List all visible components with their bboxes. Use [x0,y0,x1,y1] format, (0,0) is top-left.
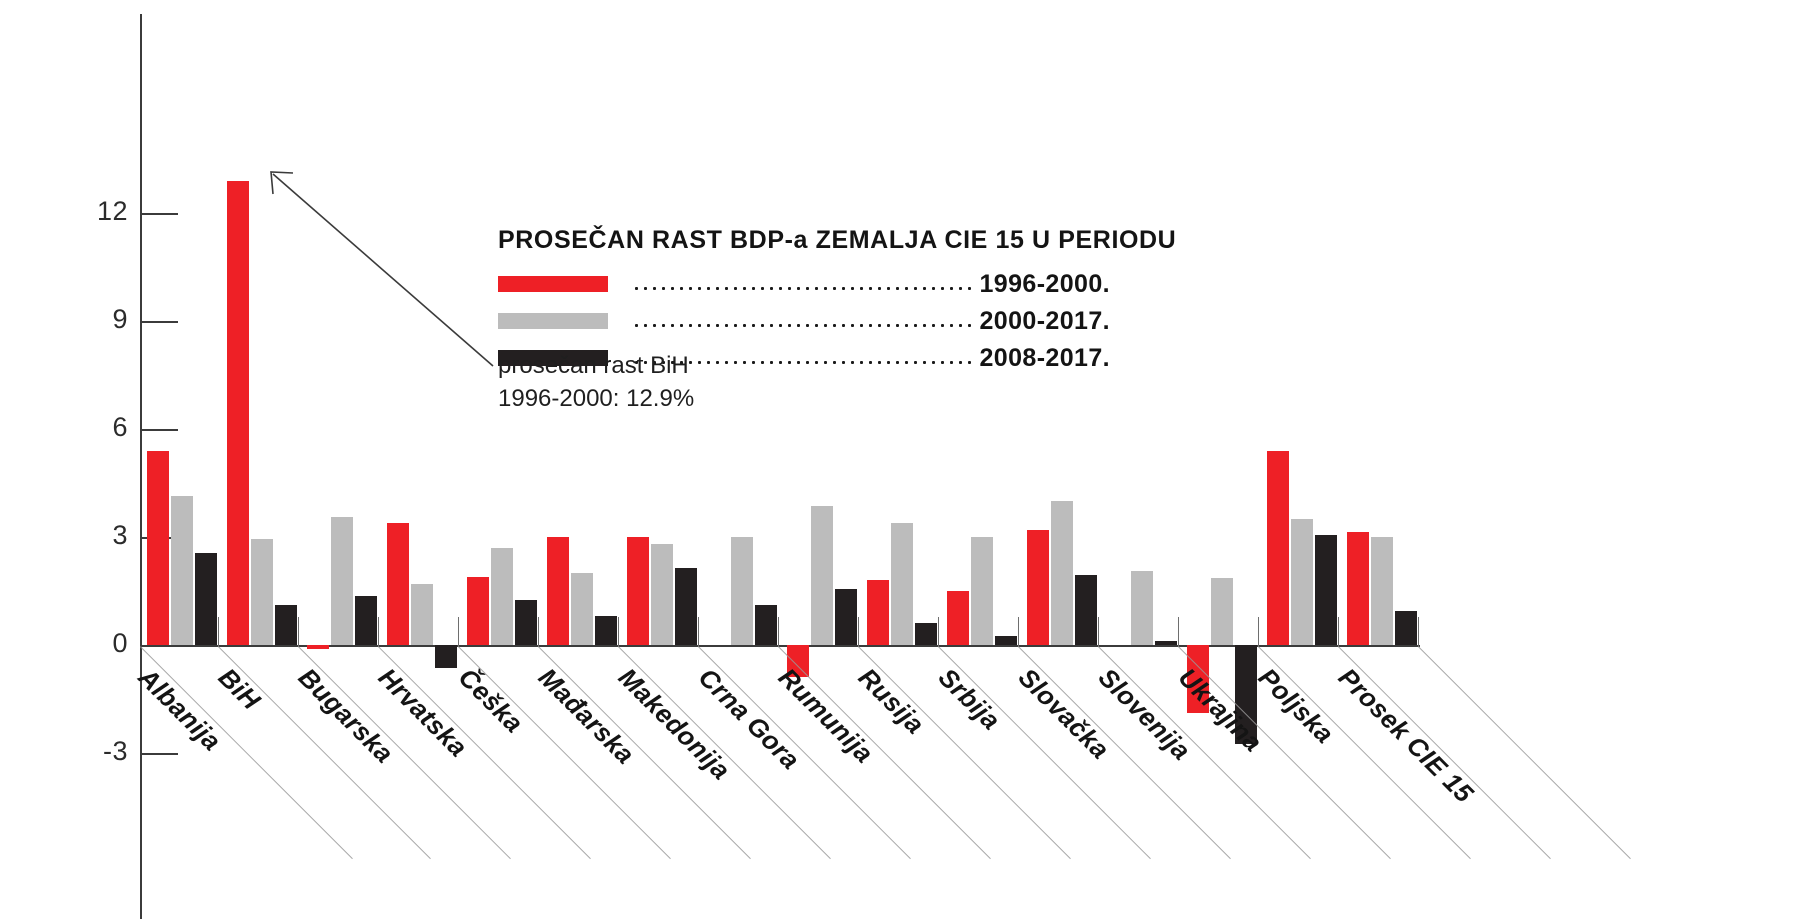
bar-group [1020,0,1100,923]
bar [1075,575,1097,645]
legend-period-label: 2008-2017. [979,344,1110,373]
y-tick-label-0: 0 [48,628,128,659]
bar-group [1100,0,1180,923]
bar [1347,532,1369,645]
y-tick-label--3: -3 [48,736,128,767]
bar [731,537,753,645]
bar [1267,451,1289,645]
bar [1395,611,1417,645]
bar [195,553,217,645]
group-separator [1178,617,1179,647]
group-separator [1418,617,1419,647]
y-tick-label-12: 12 [48,196,128,227]
legend-dot-leader [632,278,971,298]
bar [1051,501,1073,645]
bar [1027,530,1049,645]
bar-group [140,0,220,923]
bar [651,544,673,645]
bar-group [780,0,860,923]
bar [971,537,993,645]
group-separator [1338,617,1339,647]
bar [387,523,409,645]
y-axis-tick-labels: -3036912 [0,0,128,923]
bar-group [620,0,700,923]
bar [995,636,1017,645]
legend-swatch-red [498,276,608,292]
bar [1155,641,1177,645]
bar [595,616,617,645]
legend-row[interactable]: 2000-2017. [498,308,1110,334]
label-leader-line [1418,646,1631,859]
legend-row[interactable]: 1996-2000. [498,271,1110,297]
bar [411,584,433,645]
y-tick-label-3: 3 [48,520,128,551]
bar [171,496,193,645]
group-separator [458,617,459,647]
bar [755,605,777,645]
bar [891,523,913,645]
plot-area: -3036912 AlbanijaBiHBugarskaHrvatskaČešk… [0,0,1800,923]
group-separator [938,617,939,647]
bar [307,645,329,649]
group-separator [618,617,619,647]
annotation-line-2: 1996-2000: 12.9% [498,383,694,416]
bar-group [460,0,540,923]
group-separator [698,617,699,647]
bar [811,506,833,645]
bar [1315,535,1337,645]
group-separator [1098,617,1099,647]
bar [435,645,457,668]
gdp-growth-bar-chart: -3036912 AlbanijaBiHBugarskaHrvatskaČešk… [0,0,1800,923]
bar [835,589,857,645]
group-separator [378,617,379,647]
group-separator [858,617,859,647]
bar [331,517,353,645]
bar [915,623,937,645]
bar [467,577,489,645]
group-separator [218,617,219,647]
bar [227,181,249,645]
bar-group [940,0,1020,923]
bar [491,548,513,645]
annotation-line-1: prosečan rast BiH [498,350,694,383]
group-separator [298,617,299,647]
bar [515,600,537,645]
annotation-text: prosečan rast BiH 1996-2000: 12.9% [498,350,694,415]
legend-title: PROSEČAN RAST BDP-a ZEMALJA CIE 15 U PER… [498,226,1110,255]
bar [867,580,889,645]
bar [147,451,169,645]
y-tick-label-9: 9 [48,304,128,335]
bar-group [300,0,380,923]
bar [1291,519,1313,645]
bar [1211,578,1233,645]
bar [275,605,297,645]
bar-group [1260,0,1340,923]
legend-period-label: 1996-2000. [979,270,1110,299]
bar [1371,537,1393,645]
legend-period-label: 2000-2017. [979,307,1110,336]
bar [1131,571,1153,645]
group-separator [778,617,779,647]
group-separator [1018,617,1019,647]
bar-group [1180,0,1260,923]
bar-group [860,0,940,923]
bar [251,539,273,645]
bar [571,573,593,645]
legend-dot-leader [632,315,971,335]
group-separator [538,617,539,647]
bar [947,591,969,645]
group-separator [1258,617,1259,647]
bar-group [1340,0,1420,923]
y-tick-label-6: 6 [48,412,128,443]
bar [627,537,649,645]
bar [675,568,697,645]
bar-group [540,0,620,923]
bar-group [220,0,300,923]
bar [547,537,569,645]
bar [355,596,377,645]
legend-swatch-grey [498,313,608,329]
bar-group [380,0,460,923]
